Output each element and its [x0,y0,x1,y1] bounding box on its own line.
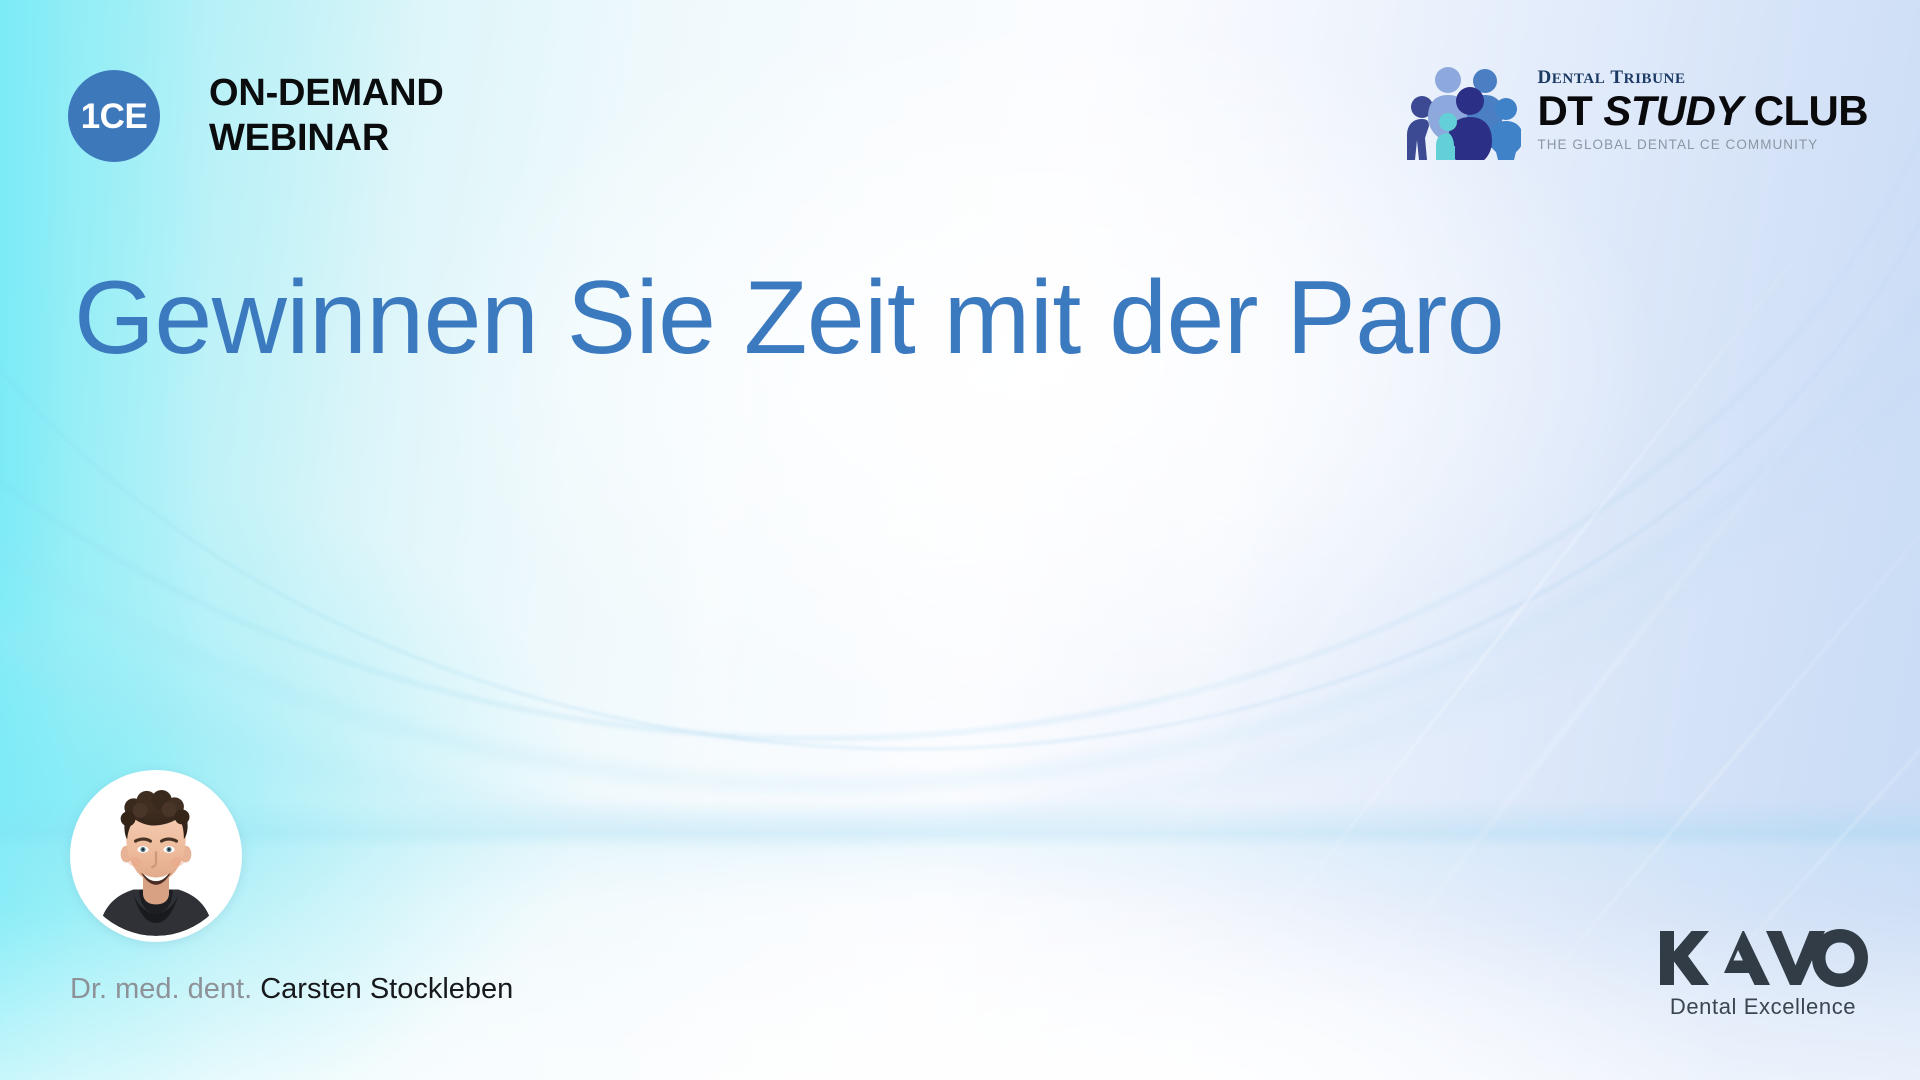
presenter-salutation: Dr. med. dent. [70,973,252,1005]
dental-tribune-label: DENTAL TRIBUNE [1537,68,1868,87]
ce-credit-badge: 1CE [68,70,160,162]
presenter-name-line: Dr. med. dent. Carsten Stockleben [70,975,513,1004]
dt-study-club-tagline: THE GLOBAL DENTAL CE COMMUNITY [1537,138,1868,152]
webinar-type-line-1: ON-DEMAND [209,71,444,116]
webinar-title: Gewinnen Sie Zeit mit der Paro [74,262,1694,374]
kavo-tagline: Dental Excellence [1658,996,1868,1018]
kavo-logo: Dental Excellence [1658,929,1868,1018]
people-group-icon [1401,60,1521,160]
presenter-name: Carsten Stockleben [260,973,513,1005]
webinar-type-line-2: WEBINAR [209,116,444,161]
dt-study-club-wordmark: DENTAL TRIBUNE DT STUDY CLUB THE GLOBAL … [1537,60,1868,151]
dt-study-club-logo: DENTAL TRIBUNE DT STUDY CLUB THE GLOBAL … [1401,60,1868,160]
webinar-type-heading: ON-DEMAND WEBINAR [209,71,444,161]
dt-study-club-title: DT STUDY CLUB [1537,90,1868,133]
webinar-promo-slide: 1CE ON-DEMAND WEBINAR [0,0,1920,1080]
presenter-headshot-image [76,776,236,936]
presenter-avatar [70,770,242,942]
background-lower-left-wash [0,0,1920,1080]
ce-credit-label: 1CE [81,99,148,134]
kavo-wordmark-icon [1658,929,1868,987]
